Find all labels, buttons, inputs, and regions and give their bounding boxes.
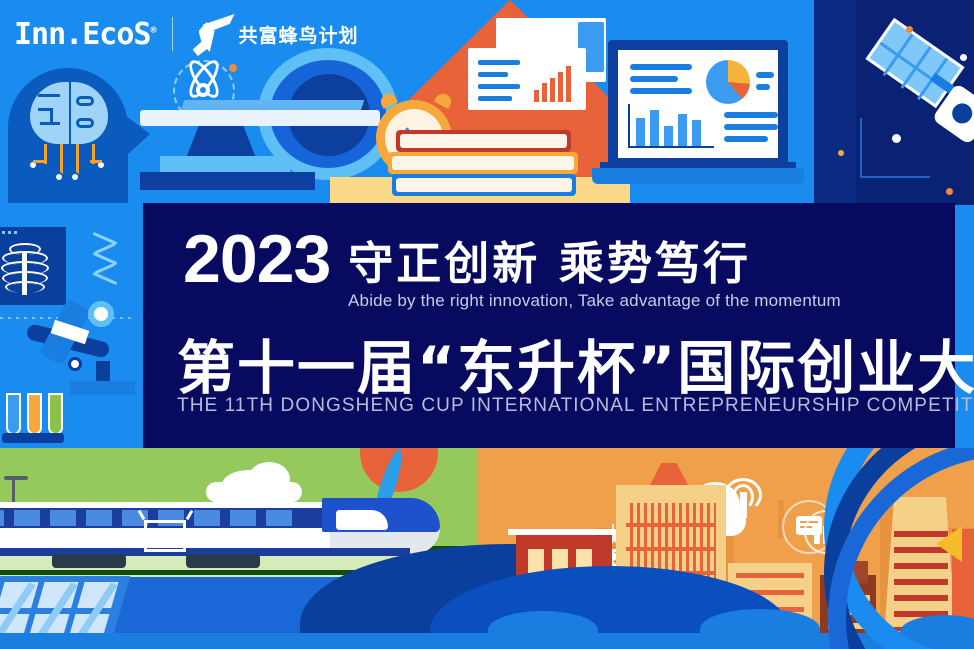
satellite-dish xyxy=(948,99,974,127)
document-text-line xyxy=(478,72,508,77)
bar-chart-icon xyxy=(534,62,578,102)
registered-trademark-icon: ® xyxy=(151,25,156,36)
book-pages xyxy=(392,156,574,170)
ai-brain-head-icon xyxy=(8,68,128,203)
mri-base-lower xyxy=(140,172,315,190)
chart-bar xyxy=(650,110,659,146)
train-bogie xyxy=(52,554,126,568)
train-window xyxy=(50,510,76,526)
pie-legend-line xyxy=(756,72,774,78)
train-window xyxy=(86,510,112,526)
dashboard-text-line xyxy=(630,64,692,70)
growth-bar xyxy=(814,532,820,544)
competition-banner: 2023 守正创新 乘势笃行 Abide by the right innova… xyxy=(0,0,974,649)
brain-circuit-line xyxy=(40,122,60,125)
test-tube-icon xyxy=(27,393,42,435)
logo-divider xyxy=(172,17,173,51)
year-label: 2023 xyxy=(183,229,330,290)
dashboard-text-line xyxy=(724,136,768,142)
train-window xyxy=(14,510,40,526)
document-text-line xyxy=(478,60,520,65)
chart-bar xyxy=(692,120,701,146)
circuit-line-icon xyxy=(860,118,930,178)
chart-x-axis xyxy=(628,146,714,148)
mail-flap xyxy=(144,520,186,538)
star-dot xyxy=(892,134,901,143)
document-text-line xyxy=(478,96,512,101)
atom-nucleus xyxy=(196,83,210,97)
star-dot xyxy=(906,26,913,33)
competition-title-english: THE 11TH DONGSHENG CUP INTERNATIONAL ENT… xyxy=(177,395,974,417)
clavicle-arc xyxy=(9,243,41,255)
atom-accent-dot xyxy=(229,64,237,72)
star-dot xyxy=(960,54,967,61)
title-band: 2023 守正创新 乘势笃行 Abide by the right innova… xyxy=(143,203,955,448)
dashboard-text-line xyxy=(724,112,778,118)
brain-node-shape xyxy=(76,96,94,106)
microscope-base xyxy=(70,381,142,395)
chart-bar xyxy=(542,83,547,102)
slogan-english: Abide by the right innovation, Take adva… xyxy=(348,291,841,311)
dashboard-text-line xyxy=(724,124,778,130)
star-dot xyxy=(946,188,953,195)
microscope-eyepiece xyxy=(88,301,114,327)
chart-bar xyxy=(558,72,563,102)
neural-wire xyxy=(76,144,79,174)
building-roof-trim xyxy=(508,529,620,535)
train-windshield xyxy=(336,510,388,530)
pie-chart-icon xyxy=(706,60,750,104)
neural-wire xyxy=(60,144,63,174)
brain-node-shape xyxy=(76,118,94,128)
neural-wire xyxy=(33,160,47,163)
document-text-line xyxy=(478,84,520,89)
brain-divider xyxy=(69,82,71,144)
train-window xyxy=(266,510,292,526)
rib-arc xyxy=(5,281,45,293)
cloud-icon xyxy=(206,482,302,502)
star-dot xyxy=(838,150,844,156)
dashboard-text-line xyxy=(630,76,678,82)
mri-pedestal xyxy=(186,126,256,158)
wifi-signal-icon xyxy=(720,478,766,522)
neural-node xyxy=(54,172,64,182)
chart-bar xyxy=(636,118,645,146)
dna-helix-icon xyxy=(88,233,124,283)
dna-rung xyxy=(93,272,118,285)
mri-base-upper xyxy=(160,156,290,172)
brain-circuit-line xyxy=(50,108,53,122)
dashboard-text-line xyxy=(630,88,692,94)
brain-shape xyxy=(30,82,108,144)
slogan-chinese: 守正创新 乘势笃行 xyxy=(348,241,751,286)
book-pages xyxy=(396,178,572,192)
play-arrow-icon xyxy=(936,526,962,562)
logo-bar: Inn.EcoS® 共富蜂鸟计划 xyxy=(14,14,359,54)
science-illustration-column xyxy=(0,205,143,450)
train-bogie xyxy=(186,554,260,568)
train-window xyxy=(230,510,256,526)
secure-mail-icon xyxy=(144,520,186,552)
brain-circuit-line xyxy=(38,94,60,97)
train-window xyxy=(0,510,4,526)
xray-ribcage-icon xyxy=(0,227,66,305)
microscope-focus-knob xyxy=(68,357,82,371)
mri-bed xyxy=(140,110,380,126)
pie-legend-line xyxy=(756,84,770,90)
test-tube-rack xyxy=(2,433,64,443)
chart-bar xyxy=(566,66,571,102)
chart-y-axis xyxy=(628,104,630,148)
program-name-label: 共富蜂鸟计划 xyxy=(239,21,359,48)
hummingbird-icon xyxy=(189,14,235,54)
test-tube-icon xyxy=(48,393,63,435)
brand-logo-text: Inn.EcoS xyxy=(14,17,151,52)
title-first-row: 2023 守正创新 乘势笃行 xyxy=(183,229,751,290)
chart-bar xyxy=(534,90,539,102)
wifi-wave xyxy=(724,478,762,512)
neural-wire xyxy=(90,160,102,163)
chart-bar xyxy=(664,126,673,146)
train-window xyxy=(194,510,220,526)
test-tube-icon xyxy=(6,393,21,435)
competition-title-chinese: 第十一届“东升杯”国际创业大赛 xyxy=(177,321,974,405)
laptop-base xyxy=(592,168,804,184)
brand-logo[interactable]: Inn.EcoS® xyxy=(14,17,156,52)
pantograph-top xyxy=(4,476,28,480)
bottom-illustration-band xyxy=(0,448,974,649)
neural-node xyxy=(70,172,80,182)
book-pages xyxy=(400,134,567,148)
chart-bar xyxy=(550,78,555,102)
chart-bar xyxy=(678,114,687,146)
